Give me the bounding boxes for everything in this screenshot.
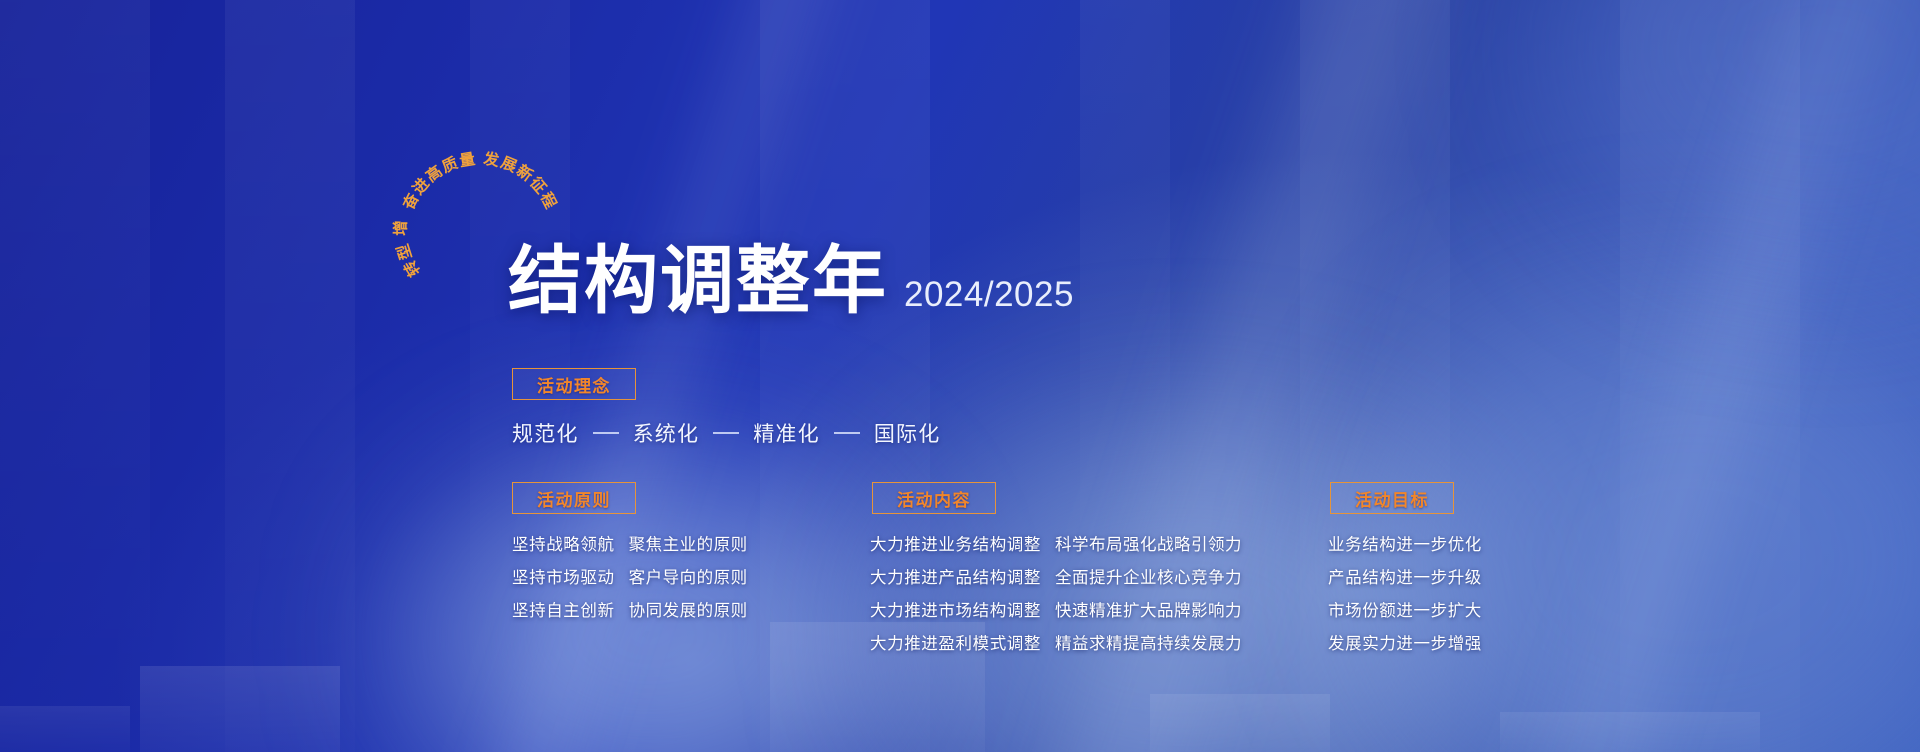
- banner-background: 奋进高质量 发展新征程 加快转型 增动能 结构调整年 2024/2025 活动理…: [0, 0, 1920, 752]
- list-item: 大力推进市场结构调整 快速精准扩大品牌影响力: [870, 597, 1242, 621]
- list-item-right: 全面提升企业核心竞争力: [1055, 564, 1242, 588]
- list-item: 坚持战略领航 聚焦主业的原则: [512, 531, 748, 555]
- list-activity-principle: 坚持战略领航 聚焦主业的原则 坚持市场驱动 客户导向的原则 坚持自主创新 协同发…: [512, 531, 748, 621]
- list-item-left: 大力推进业务结构调整: [870, 531, 1041, 555]
- list-item: 市场份额进一步扩大: [1328, 597, 1482, 621]
- title-row: 结构调整年 2024/2025: [508, 244, 1074, 318]
- list-item-left: 坚持市场驱动: [512, 564, 615, 588]
- list-item-right: 科学布局强化战略引领力: [1055, 531, 1242, 555]
- list-item: 坚持自主创新 协同发展的原则: [512, 597, 748, 621]
- keyword-4: 国际化: [874, 418, 941, 448]
- list-item: 坚持市场驱动 客户导向的原则: [512, 564, 748, 588]
- list-item-left: 坚持自主创新: [512, 597, 615, 621]
- badge-activity-concept[interactable]: 活动理念: [512, 368, 636, 400]
- list-item: 发展实力进一步增强: [1328, 630, 1482, 654]
- list-item: 产品结构进一步升级: [1328, 564, 1482, 588]
- list-item-left: 坚持战略领航: [512, 531, 615, 555]
- list-item-right: 精益求精提高持续发展力: [1055, 630, 1242, 654]
- badge-activity-content[interactable]: 活动内容: [872, 482, 996, 514]
- badge-activity-principle-label: 活动原则: [537, 486, 611, 511]
- list-item-right: 协同发展的原则: [629, 597, 748, 621]
- list-item: 大力推进业务结构调整 科学布局强化战略引领力: [870, 531, 1242, 555]
- list-item-left: 市场份额进一步扩大: [1328, 597, 1482, 621]
- list-item-right: 聚焦主业的原则: [629, 531, 748, 555]
- keyword-1: 规范化: [512, 418, 579, 448]
- keyword-2: 系统化: [633, 418, 700, 448]
- list-activity-content: 大力推进业务结构调整 科学布局强化战略引领力 大力推进产品结构调整 全面提升企业…: [870, 531, 1242, 654]
- keyword-separator-1: [593, 432, 619, 434]
- keyword-separator-3: [834, 432, 860, 434]
- list-item-left: 大力推进盈利模式调整: [870, 630, 1041, 654]
- list-item-right: 客户导向的原则: [629, 564, 748, 588]
- keyword-3: 精准化: [753, 418, 820, 448]
- list-item-left: 产品结构进一步升级: [1328, 564, 1482, 588]
- list-item: 大力推进产品结构调整 全面提升企业核心竞争力: [870, 564, 1242, 588]
- badge-activity-content-label: 活动内容: [897, 486, 971, 511]
- banner-content: 奋进高质量 发展新征程 加快转型 增动能 结构调整年 2024/2025 活动理…: [0, 0, 1920, 752]
- badge-activity-concept-label: 活动理念: [537, 372, 611, 397]
- title-year: 2024/2025: [904, 277, 1074, 318]
- list-item: 大力推进盈利模式调整 精益求精提高持续发展力: [870, 630, 1242, 654]
- list-item-left: 业务结构进一步优化: [1328, 531, 1482, 555]
- page-title: 结构调整年: [508, 244, 888, 318]
- list-item-left: 大力推进产品结构调整: [870, 564, 1041, 588]
- list-item: 业务结构进一步优化: [1328, 531, 1482, 555]
- list-activity-goal: 业务结构进一步优化 产品结构进一步升级 市场份额进一步扩大 发展实力进一步增强: [1328, 531, 1482, 654]
- badge-activity-goal[interactable]: 活动目标: [1330, 482, 1454, 514]
- seal-arc-top: 奋进高质量 发展新征程: [398, 149, 560, 214]
- keyword-separator-2: [713, 432, 739, 434]
- list-item-right: 快速精准扩大品牌影响力: [1055, 597, 1242, 621]
- list-item-left: 发展实力进一步增强: [1328, 630, 1482, 654]
- concept-keywords: 规范化 系统化 精准化 国际化: [512, 418, 940, 448]
- badge-activity-principle[interactable]: 活动原则: [512, 482, 636, 514]
- list-item-left: 大力推进市场结构调整: [870, 597, 1041, 621]
- badge-activity-goal-label: 活动目标: [1355, 486, 1429, 511]
